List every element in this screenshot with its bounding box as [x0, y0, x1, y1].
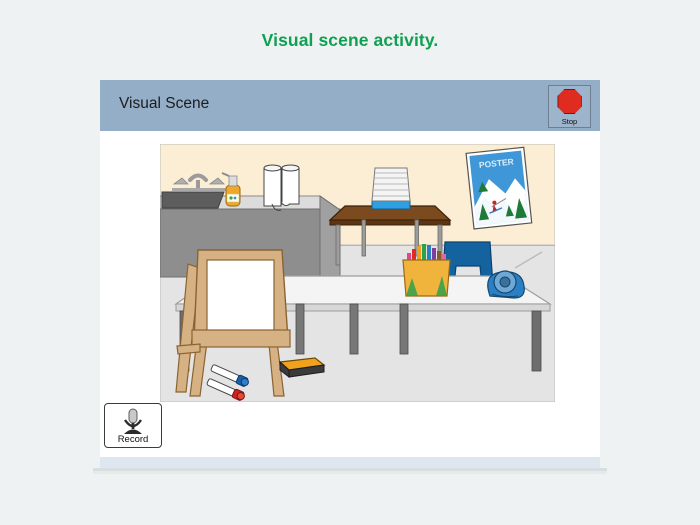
record-button[interactable]: Record	[104, 403, 162, 448]
record-button-label: Record	[105, 434, 161, 445]
visual-scene-window: Visual Scene Stop POSTER	[100, 80, 600, 457]
paper-towel-rolls	[264, 165, 299, 210]
stop-button[interactable]: Stop	[548, 85, 591, 128]
microphone-icon	[120, 408, 146, 436]
window-footer-strip	[100, 457, 600, 468]
window-title: Visual Scene	[119, 95, 209, 113]
stop-button-label: Stop	[549, 117, 590, 126]
octagon-stop-icon	[557, 89, 582, 114]
window-title-bar: Visual Scene Stop	[100, 80, 600, 131]
window-shadow-lower	[93, 471, 607, 474]
wall-poster: POSTER	[466, 147, 532, 229]
easel-canvas	[207, 260, 274, 332]
page-title: Visual scene activity.	[0, 30, 700, 51]
visual-scene-image[interactable]: POSTER	[160, 144, 555, 402]
paper-stack	[372, 168, 410, 209]
